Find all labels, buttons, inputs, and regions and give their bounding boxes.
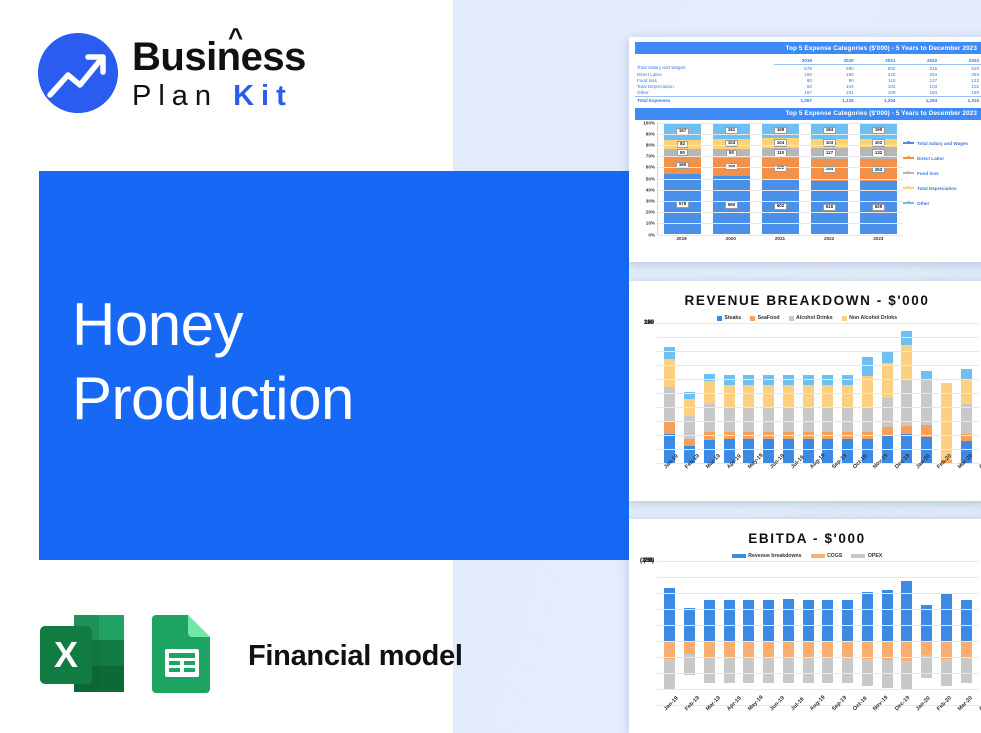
revenue-breakdown-card: REVENUE BREAKDOWN - $'000 SteaksSeaFoodA… [629, 281, 981, 501]
bar-segment [822, 385, 833, 407]
bar-column [779, 561, 799, 705]
gridline [657, 407, 979, 408]
bar-segment [901, 379, 912, 426]
gridline [658, 223, 903, 224]
bar-segment-negative [743, 658, 754, 684]
growth-arrow-icon [38, 33, 118, 113]
bar-segment [704, 374, 715, 381]
bar-segment-positive [961, 600, 972, 641]
total-cell: 1,067 [774, 97, 816, 104]
expense-categories-card: Top 5 Expense Categories ($'000) - 5 Yea… [629, 37, 981, 262]
bar-segment: 161 [713, 123, 750, 139]
bar-segment-negative [724, 641, 735, 658]
bar-segment [803, 407, 814, 432]
bar-segment [763, 439, 774, 463]
legend-swatch-icon [842, 316, 847, 321]
circumflex-accent-icon: ^ [228, 24, 243, 50]
y-tick-label: 0% [648, 232, 655, 237]
gridline [657, 449, 979, 450]
legend-marker-icon [903, 202, 914, 204]
bar-value-label: 602 [774, 203, 787, 210]
legend-label: OPEX [868, 553, 882, 559]
bar-segment-negative [664, 659, 675, 690]
legend-marker-icon [903, 142, 914, 144]
gridline [657, 609, 979, 610]
bar-value-label: 104 [725, 140, 738, 147]
bar-segment-negative [783, 641, 794, 658]
x-tick-label: 2020 [712, 236, 749, 241]
bar-segment [743, 407, 754, 432]
bar-segment [921, 371, 932, 379]
percent-plot-area: 1678280160578161104901805901691041102206… [657, 123, 903, 235]
bar-column [897, 561, 917, 705]
y-tick-label: 100% [643, 120, 655, 125]
bar-column [700, 561, 720, 705]
bar-segment-negative [961, 658, 972, 684]
revenue-chart-title: REVENUE BREAKDOWN - $'000 [633, 293, 981, 308]
gridline [657, 351, 979, 352]
bar-segment: 169 [762, 123, 799, 139]
legend-swatch-icon [789, 316, 794, 321]
bar-column [739, 561, 759, 705]
bar-segment-negative [842, 658, 853, 684]
x-tick-label: 2023 [860, 236, 897, 241]
bar-segment: 190 [860, 123, 897, 139]
table-cell: 161 [816, 89, 858, 97]
bar-segment-positive [901, 581, 912, 641]
bar-column [680, 561, 700, 705]
bar-segment [961, 369, 972, 379]
table-total-row: Total Expenses1,0671,1251,2041,2841,316 [635, 97, 981, 104]
bar-segment-positive [941, 594, 952, 641]
bar-segment-positive [743, 600, 754, 641]
ebitda-chart-legend: Revenue breakdownsCOGSOPEX [633, 553, 981, 559]
bar-segment [921, 379, 932, 425]
y-tick-label: - [652, 320, 654, 326]
bar-segment [743, 385, 754, 407]
total-label: Total Expenses [635, 97, 774, 104]
gridline [658, 134, 903, 135]
bar-column [937, 561, 957, 705]
gridline [657, 689, 979, 690]
bar-segment [882, 398, 893, 427]
gridline [657, 421, 979, 422]
bar-segment: 602 [762, 179, 799, 235]
bar-column [660, 561, 680, 705]
gridline [657, 593, 979, 594]
bar-segment-positive [842, 600, 853, 641]
y-tick-label: 90% [646, 131, 655, 136]
y-tick-label: 20% [646, 210, 655, 215]
legend-marker-icon [903, 187, 914, 189]
x-tick-label: 2022 [811, 236, 848, 241]
bar-segment-positive [882, 590, 893, 641]
ebitda-plot-area [657, 561, 979, 705]
bar-segment-negative [803, 658, 814, 684]
bar-segment [822, 407, 833, 432]
percent-chart-legend: Total Salary and WagesDirect LaborFood l… [903, 141, 981, 216]
bar-segment [664, 421, 675, 434]
legend-item[interactable]: Revenue breakdowns [732, 553, 802, 559]
bar-segment-negative [961, 641, 972, 658]
y-tick-label: (200) [640, 558, 654, 564]
bar-segment: 184 [811, 123, 848, 139]
legend-label: Total Salary and Wages [917, 141, 968, 146]
gridline [658, 201, 903, 202]
percent-x-axis: 20192020202120222023 [657, 236, 903, 241]
ebitda-chart-title: EBITDA - $'000 [633, 531, 981, 546]
legend-swatch-icon [811, 554, 825, 558]
bar-segment-negative [664, 641, 675, 659]
bar-segment-negative [704, 641, 715, 658]
revenue-plot-box: 20018016014012010080604020- Jan-19Feb-19… [633, 323, 981, 499]
legend-item[interactable]: Alcohol Drinks [789, 315, 833, 321]
bar-column [818, 561, 838, 705]
bar-segment: 578 [664, 174, 701, 235]
gridline [658, 190, 903, 191]
bar-segment [862, 357, 873, 375]
bar-segment [961, 379, 972, 404]
bar-segment: 167 [664, 123, 701, 141]
bar-segment-positive [704, 600, 715, 641]
legend-item[interactable]: Direct Labor [903, 156, 981, 161]
legend-label: Other [917, 201, 929, 206]
brand-name-line2: Plan Kit [132, 82, 306, 111]
y-tick-label: 70% [646, 154, 655, 159]
stacked-bar [941, 383, 952, 463]
bar-segment-negative [901, 661, 912, 690]
bar-segment-negative [763, 658, 774, 684]
stacked-bar [684, 392, 695, 463]
bar-segment [704, 404, 715, 432]
legend-item[interactable]: COGS [811, 553, 843, 559]
y-tick-label: 80% [646, 142, 655, 147]
bar-segment [901, 426, 912, 434]
legend-marker-icon [903, 157, 914, 159]
expense-chart-title: Top 5 Expense Categories ($'000) - 5 Yea… [635, 108, 981, 120]
x-tick-label: 2021 [762, 236, 799, 241]
bar-column [877, 561, 897, 705]
bar-segment-negative [704, 658, 715, 683]
gridline [658, 179, 903, 180]
y-tick-label: 40% [646, 187, 655, 192]
bar-segment-positive [822, 600, 833, 641]
ebitda-card: EBITDA - $'000 Revenue breakdownsCOGSOPE… [629, 519, 981, 733]
x-tick-label: 2019 [663, 236, 700, 241]
bar-segment: 590 [713, 176, 750, 235]
legend-marker-icon [903, 172, 914, 174]
bar-value-label: 615 [823, 204, 836, 211]
bar-segment: 160 [664, 157, 701, 174]
gridline [657, 625, 979, 626]
gridline [658, 156, 903, 157]
bar-segment [803, 385, 814, 407]
bar-segment-positive [664, 588, 675, 641]
legend-item[interactable]: Non Alcohol Drinks [842, 315, 897, 321]
legend-swatch-icon [717, 316, 722, 321]
gridline [657, 641, 979, 642]
legend-label: Food loss [917, 171, 939, 176]
bar-segment-negative [684, 641, 695, 654]
legend-item[interactable]: Other [903, 201, 981, 206]
bar-segment: 102 [860, 139, 897, 148]
revenue-plot-area [657, 323, 979, 463]
legend-label: Non Alcohol Drinks [849, 315, 897, 321]
bar-segment-negative [822, 658, 833, 684]
revenue-chart-legend: SteaksSeaFoodAlcohol DrinksNon Alcohol D… [633, 315, 981, 321]
format-badges: X Financial model [38, 613, 463, 700]
bar-value-label: 629 [872, 204, 885, 211]
legend-label: SeaFood [758, 315, 780, 321]
bar-segment [882, 352, 893, 363]
revenue-x-axis: Jan-19Feb-19Mar-19Apr-19May-19Jun-19Jul-… [657, 466, 979, 472]
slide-canvas: Business ^ Plan Kit Honey Production X [0, 0, 981, 733]
bar-segment-negative [842, 641, 853, 658]
ebitda-plot-box: 25020015010050-(50)(100)(150)(200) Jan-1… [633, 561, 981, 733]
expense-table-title: Top 5 Expense Categories ($'000) - 5 Yea… [635, 42, 981, 54]
bar-segment-positive [803, 600, 814, 641]
bar-segment [842, 385, 853, 407]
bar-segment: 103 [811, 139, 848, 148]
bar-column [917, 561, 937, 705]
bar-segment [664, 359, 675, 388]
bar-segment: 254 [811, 159, 848, 181]
y-tick-label: 50% [646, 176, 655, 181]
bar-segment: 104 [762, 138, 799, 148]
bar-segment [783, 407, 794, 432]
ebitda-x-axis: Jan-19Feb-19Mar-19Apr-19May-19Jun-19Jul-… [657, 708, 979, 714]
gridline [657, 323, 979, 324]
gridline [658, 167, 903, 168]
brand-name-line1-text: Business [132, 35, 306, 79]
bar-segment-negative [783, 658, 794, 684]
bar-segment [763, 385, 774, 407]
google-sheets-icon [148, 613, 216, 700]
row-label: Other [635, 89, 774, 97]
bar-segment-negative [941, 641, 952, 659]
brand-name-line1: Business ^ [132, 37, 306, 77]
total-cell: 1,316 [941, 97, 981, 104]
bar-segment [724, 385, 735, 407]
bar-value-label: 220 [774, 165, 787, 172]
gridline [657, 337, 979, 338]
bar-segment [862, 407, 873, 432]
svg-text:X: X [54, 634, 78, 675]
bar-segment: 220 [762, 158, 799, 178]
bar-segment-negative [921, 655, 932, 677]
table-cell: 190 [941, 89, 981, 97]
legend-label: Revenue breakdowns [748, 553, 801, 559]
gridline [658, 212, 903, 213]
gridline [657, 561, 979, 562]
legend-label: Steaks [724, 315, 741, 321]
gridline [657, 673, 979, 674]
bar-segment [763, 407, 774, 432]
total-cell: 1,125 [816, 97, 858, 104]
bar-segment [783, 439, 794, 463]
legend-swatch-icon [851, 554, 865, 558]
expense-table: 2019 2020 2021 2022 2023 Total Salary an… [635, 58, 981, 104]
bar-segment-negative [921, 641, 932, 655]
bar-segment [783, 385, 794, 407]
bar-segment-positive [862, 592, 873, 641]
total-cell: 1,204 [858, 97, 900, 104]
bar-column [798, 561, 818, 705]
y-tick-label: 60% [646, 165, 655, 170]
table-row: Other167161169184190 [635, 89, 981, 97]
bar-segment-negative [803, 641, 814, 658]
legend-item[interactable]: Steaks [717, 315, 741, 321]
bar-column [719, 561, 739, 705]
bar-column [838, 561, 858, 705]
bar-segment [862, 376, 873, 408]
page-title: Honey Production [72, 288, 354, 436]
legend-swatch-icon [732, 554, 746, 558]
gridline [657, 435, 979, 436]
bar-column [956, 561, 976, 705]
expense-stacked-percent-chart: 100%90%80%70%60%50%40%30%20%10%0% 167828… [635, 123, 981, 251]
bar-segment-positive [724, 600, 735, 641]
brand-logo: Business ^ Plan Kit [38, 33, 306, 113]
format-label: Financial model [248, 640, 463, 673]
gridline [657, 379, 979, 380]
legend-label: Direct Labor [917, 156, 944, 161]
microsoft-excel-icon: X [38, 613, 126, 700]
bar-segment: 104 [713, 139, 750, 149]
bar-segment-positive [921, 605, 932, 641]
gridline [658, 145, 903, 146]
brand-name-plan: Plan [132, 80, 218, 112]
bar-segment-negative [822, 641, 833, 658]
bar-segment [704, 432, 715, 440]
bar-segment [882, 427, 893, 435]
table-cell: 169 [858, 89, 900, 97]
table-cell: 167 [774, 89, 816, 97]
percent-y-axis: 100%90%80%70%60%50%40%30%20%10%0% [635, 123, 657, 235]
gridline [657, 365, 979, 366]
legend-swatch-icon [750, 316, 755, 321]
bar-column [858, 561, 878, 705]
bar-segment [664, 347, 675, 359]
gridline [657, 577, 979, 578]
legend-label: Alcohol Drinks [796, 315, 833, 321]
legend-item[interactable]: Total Depreciation [903, 186, 981, 191]
bar-segment [961, 404, 972, 434]
gridline [657, 393, 979, 394]
stacked-bar [862, 357, 873, 463]
table-cell: 184 [899, 89, 941, 97]
gridline [658, 123, 903, 124]
y-tick-label: 10% [646, 221, 655, 226]
legend-item[interactable]: SeaFood [750, 315, 779, 321]
bar-segment-negative [724, 658, 735, 684]
legend-item[interactable]: OPEX [851, 553, 882, 559]
legend-label: COGS [827, 553, 842, 559]
bar-segment-negative [763, 641, 774, 658]
brand-name-kit: Kit [233, 80, 293, 112]
bar-segment [842, 407, 853, 432]
bar-segment [724, 407, 735, 432]
total-cell: 1,284 [899, 97, 941, 104]
bar-segment-positive [783, 599, 794, 641]
bar-segment-negative [862, 641, 873, 659]
legend-item[interactable]: Total Salary and Wages [903, 141, 981, 146]
bar-segment-negative [743, 641, 754, 658]
legend-item[interactable]: Food loss [903, 171, 981, 176]
y-tick-label: 30% [646, 198, 655, 203]
legend-label: Total Depreciation [917, 186, 957, 191]
bar-column [759, 561, 779, 705]
gridline [657, 657, 979, 658]
bar-segment-positive [763, 600, 774, 641]
bar-segment [901, 345, 912, 379]
bar-value-label: 590 [725, 201, 738, 208]
